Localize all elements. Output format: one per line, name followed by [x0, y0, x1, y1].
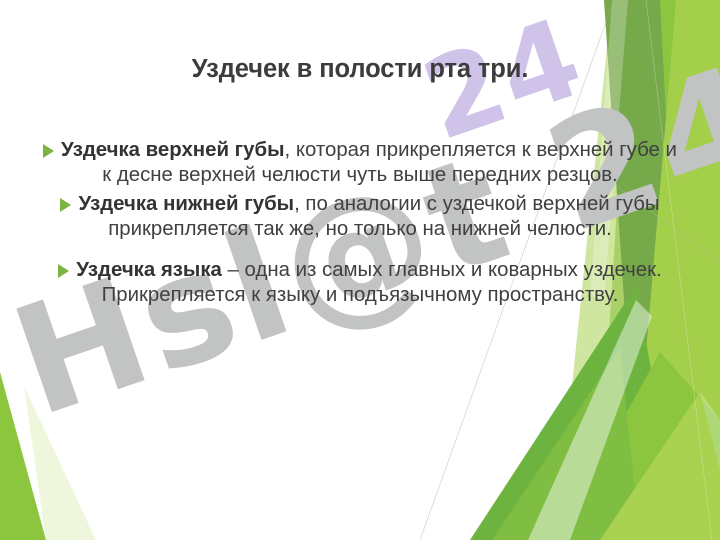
presentation-slide: 24 Нsl@t 24 Уздечек в полости рта три. У… [0, 0, 720, 540]
bullet-item-2: Уздечка нижней губы, по аналогии с уздеч… [36, 192, 684, 242]
bullet-lead-3: Уздечка языка [76, 259, 222, 281]
triangle-bullet-icon [58, 264, 69, 278]
bullet-item-3: Уздечка языка – одна из самых главных и … [36, 258, 684, 308]
slide-content: Уздечек в полости рта три. Уздечка верхн… [0, 0, 720, 540]
bullet-list: Уздечка верхней губы, которая прикрепляе… [36, 138, 684, 312]
triangle-bullet-icon [60, 198, 71, 212]
bullet-lead-2: Уздечка нижней губы [78, 193, 294, 215]
slide-title: Уздечек в полости рта три. [40, 55, 680, 84]
bullet-lead-1: Уздечка верхней губы [61, 139, 284, 161]
bullet-item-1: Уздечка верхней губы, которая прикрепляе… [36, 138, 684, 188]
triangle-bullet-icon [43, 144, 54, 158]
